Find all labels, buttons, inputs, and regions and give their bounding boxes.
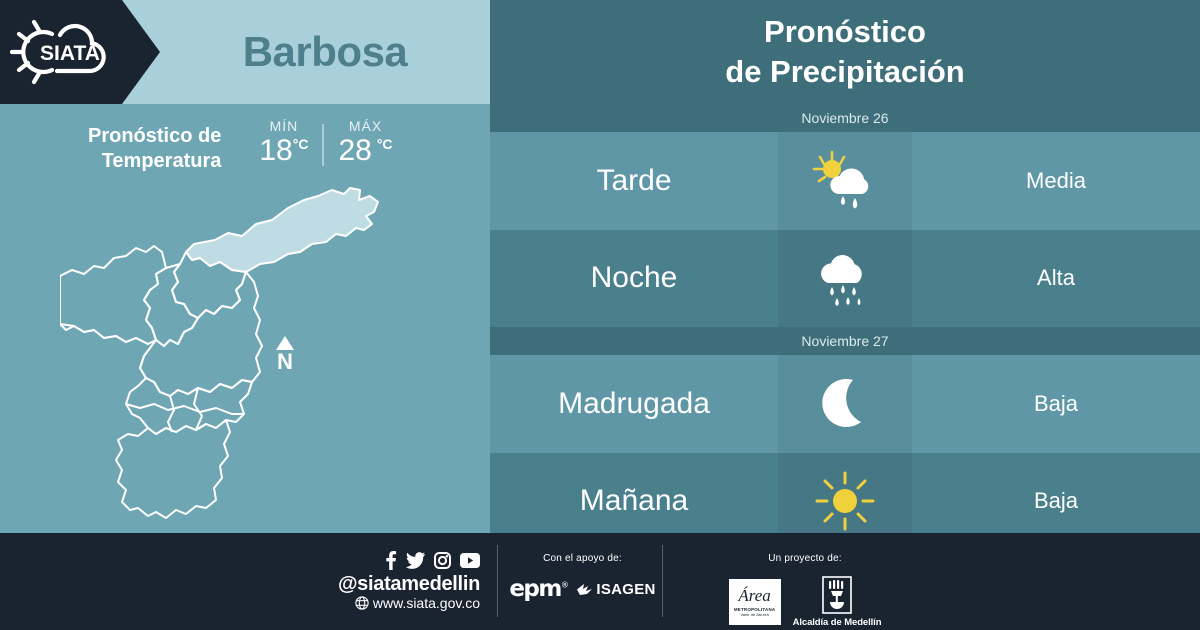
isagen-logo[interactable]: ISAGEN [577, 581, 655, 598]
map-divider-3 [126, 404, 244, 414]
precipitation-level: Media [912, 168, 1200, 194]
temperature-title-line2: Temperatura [102, 150, 222, 172]
moon-icon [815, 374, 875, 434]
precipitation-level: Baja [912, 391, 1200, 417]
temperature-title-line1: Pronóstico de [88, 125, 221, 147]
compass-arrow-icon [276, 336, 294, 350]
map-region-copacabana [144, 264, 198, 346]
website-row[interactable]: www.siata.gov.co [330, 595, 480, 612]
city-name: Barbosa [160, 0, 490, 104]
twitter-icon[interactable] [406, 552, 425, 569]
precipitation-panel: Pronóstico de Precipitación Noviembre 26… [490, 0, 1200, 533]
map-svg [60, 178, 420, 533]
map-divider-2 [194, 388, 202, 430]
sun-rain-cloud-icon [812, 150, 878, 212]
heavy-rain-cloud-icon [812, 247, 878, 309]
epm-logo[interactable]: epm® [509, 576, 567, 602]
support-logos: epm® ISAGEN [500, 576, 665, 602]
left-panel: SIATA Barbosa Pronóstico de Temperatura … [0, 0, 490, 533]
siata-logo[interactable]: SIATA [0, 0, 160, 104]
temperature-forecast: Pronóstico de Temperatura MÍN 18°C MÁX [0, 104, 490, 186]
compass-label: N [276, 351, 294, 373]
precipitation-title-line2: de Precipitación [725, 52, 964, 92]
weather-icon-cell [778, 132, 912, 230]
temperature-min-value-wrap: 18°C [259, 136, 308, 166]
footer: @siatamedellin www.siata.gov.co Con el a… [0, 533, 1200, 630]
temperature-min-label: MÍN [259, 118, 308, 134]
alcaldia-crest-icon [822, 576, 852, 614]
sun-icon [814, 470, 876, 532]
left-header: SIATA Barbosa [0, 0, 490, 104]
siata-logo-text: SIATA [40, 42, 100, 65]
temperature-min: MÍN 18°C [245, 118, 322, 166]
globe-icon [355, 596, 369, 610]
table-row[interactable]: Noche Alta [490, 230, 1200, 328]
temperature-max: MÁX 28°C [324, 118, 406, 166]
map-divider-4 [140, 348, 150, 378]
sun-disc [823, 160, 841, 178]
map-region-caldas [116, 420, 230, 518]
sun-disc [833, 489, 857, 513]
footer-divider-2 [662, 545, 663, 617]
period-label: Madrugada [490, 387, 778, 421]
weather-icon-cell [778, 355, 912, 453]
precipitation-header: Pronóstico de Precipitación [490, 0, 1200, 104]
area-logo-line2: Valle de Aburrá [740, 612, 769, 617]
temperature-title: Pronóstico de Temperatura [88, 118, 221, 174]
temperature-max-label: MÁX [338, 118, 392, 134]
temperature-min-unit: °C [293, 136, 309, 152]
date-label-day1: Noviembre 26 [490, 104, 1200, 132]
temperature-max-value-wrap: 28°C [338, 136, 392, 166]
map-region-medellin [140, 272, 262, 396]
social-icons [330, 551, 480, 570]
temperature-min-value: 18 [259, 134, 292, 167]
temperature-max-value: 28 [338, 134, 371, 167]
precipitation-level: Alta [912, 265, 1200, 291]
temperature-max-unit: °C [377, 136, 393, 152]
period-label: Noche [490, 261, 778, 295]
precipitation-level: Baja [912, 488, 1200, 514]
project-block: Un proyecto de: Área METROPOLITANA Valle… [690, 553, 920, 628]
table-row[interactable]: Tarde [490, 132, 1200, 230]
sun-cloud-icon: SIATA [8, 14, 126, 90]
footer-divider-1 [497, 545, 498, 617]
epm-logo-mark: ® [561, 580, 568, 589]
aburra-valley-map[interactable]: N [0, 186, 490, 533]
period-label: Tarde [490, 164, 778, 198]
weather-forecast-poster: SIATA Barbosa Pronóstico de Temperatura … [0, 0, 1200, 630]
area-logo-script: Área [738, 587, 770, 604]
precipitation-title-line1: Pronóstico [764, 12, 926, 52]
support-caption: Con el apoyo de: [500, 553, 665, 564]
facebook-icon[interactable] [385, 551, 397, 570]
social-block: @siatamedellin www.siata.gov.co [330, 551, 480, 612]
period-label: Mañana [490, 484, 778, 518]
project-caption: Un proyecto de: [690, 553, 920, 564]
alcaldia-de-medellin-logo[interactable]: Alcaldía de Medellín [793, 576, 882, 628]
map-divider-1 [168, 396, 174, 432]
date-label-day2: Noviembre 27 [490, 327, 1200, 355]
raindrop-group [830, 285, 860, 306]
raindrop [853, 198, 858, 209]
cloud-shape [821, 255, 862, 283]
table-row[interactable]: Madrugada Baja [490, 355, 1200, 453]
project-logos: Área METROPOLITANA Valle de Aburrá [690, 576, 920, 628]
area-metropolitana-logo[interactable]: Área METROPOLITANA Valle de Aburrá [729, 579, 781, 625]
weather-icon-cell [778, 230, 912, 328]
map-region-barbosa [186, 188, 378, 272]
alcaldia-logo-text: Alcaldía de Medellín [793, 617, 882, 628]
raindrop [841, 196, 845, 205]
youtube-icon[interactable] [460, 553, 480, 568]
isagen-mark-icon [577, 582, 594, 597]
website-url: www.siata.gov.co [373, 595, 480, 612]
social-handle[interactable]: @siatamedellin [330, 573, 480, 595]
map-region-bello [60, 246, 166, 344]
instagram-icon[interactable] [434, 552, 451, 569]
support-block: Con el apoyo de: epm® ISAGEN [500, 553, 665, 602]
epm-logo-text: epm [509, 576, 561, 602]
isagen-logo-text: ISAGEN [596, 581, 655, 598]
compass-north: N [276, 336, 294, 373]
